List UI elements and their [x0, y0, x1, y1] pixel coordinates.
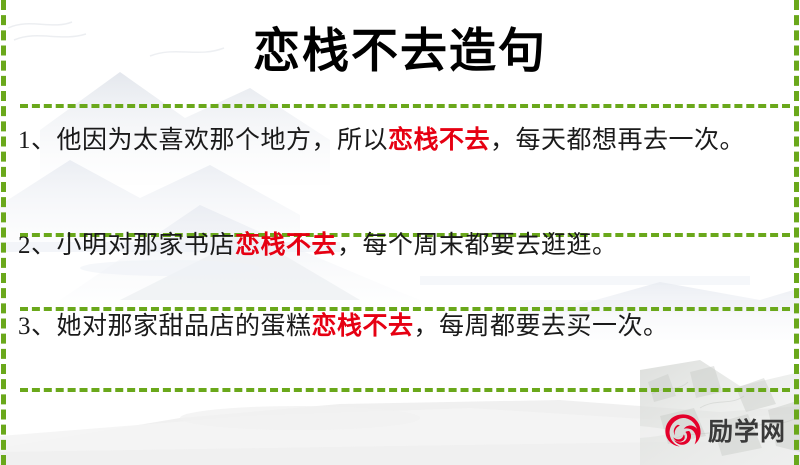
sentence-item-1: 1、他因为太喜欢那个地方，所以恋栈不去，每天都想再去一次。: [18, 118, 784, 216]
sentence-1-text-after: ，每天都想再去一次。: [490, 127, 745, 154]
sentence-worksheet-page: 恋栈不去造句 1、他因为太喜欢那个地方，所以恋栈不去，每天都想再去一次。 2、小…: [0, 0, 800, 465]
flame-swirl-logo-icon: [663, 412, 703, 452]
sentence-1-number: 1、: [18, 127, 57, 154]
sentence-item-3: 3、她对那家甜品店的蛋糕恋栈不去，每周都要去买一次。: [18, 297, 784, 378]
separator-after-item-3: [20, 388, 790, 392]
sentence-list: 1、他因为太喜欢那个地方，所以恋栈不去，每天都想再去一次。 2、小明对那家书店恋…: [18, 118, 784, 378]
sentence-3-number: 3、: [18, 313, 57, 340]
watermark-brand-text: 励学网: [708, 418, 786, 446]
sentence-2-text-after: ，每个周末都要去逛逛。: [337, 232, 618, 259]
sentence-3-idiom-highlight: 恋栈不去: [312, 313, 414, 340]
watermark-logo: 励学网: [663, 412, 786, 452]
sentence-1-text-before: 他因为太喜欢那个地方，所以: [57, 127, 389, 154]
sentence-3-text-before: 她对那家甜品店的蛋糕: [57, 313, 312, 340]
sentence-1-idiom-highlight: 恋栈不去: [388, 127, 490, 154]
sentence-2-number: 2、: [18, 232, 57, 259]
sentence-2-text-before: 小明对那家书店: [57, 232, 236, 259]
sentence-2-idiom-highlight: 恋栈不去: [235, 232, 337, 259]
page-title: 恋栈不去造句: [0, 22, 800, 82]
separator-below-title: [20, 104, 790, 108]
sentence-3-text-after: ，每周都要去买一次。: [414, 313, 669, 340]
sentence-item-2: 2、小明对那家书店恋栈不去，每个周末都要去逛逛。: [18, 216, 784, 297]
